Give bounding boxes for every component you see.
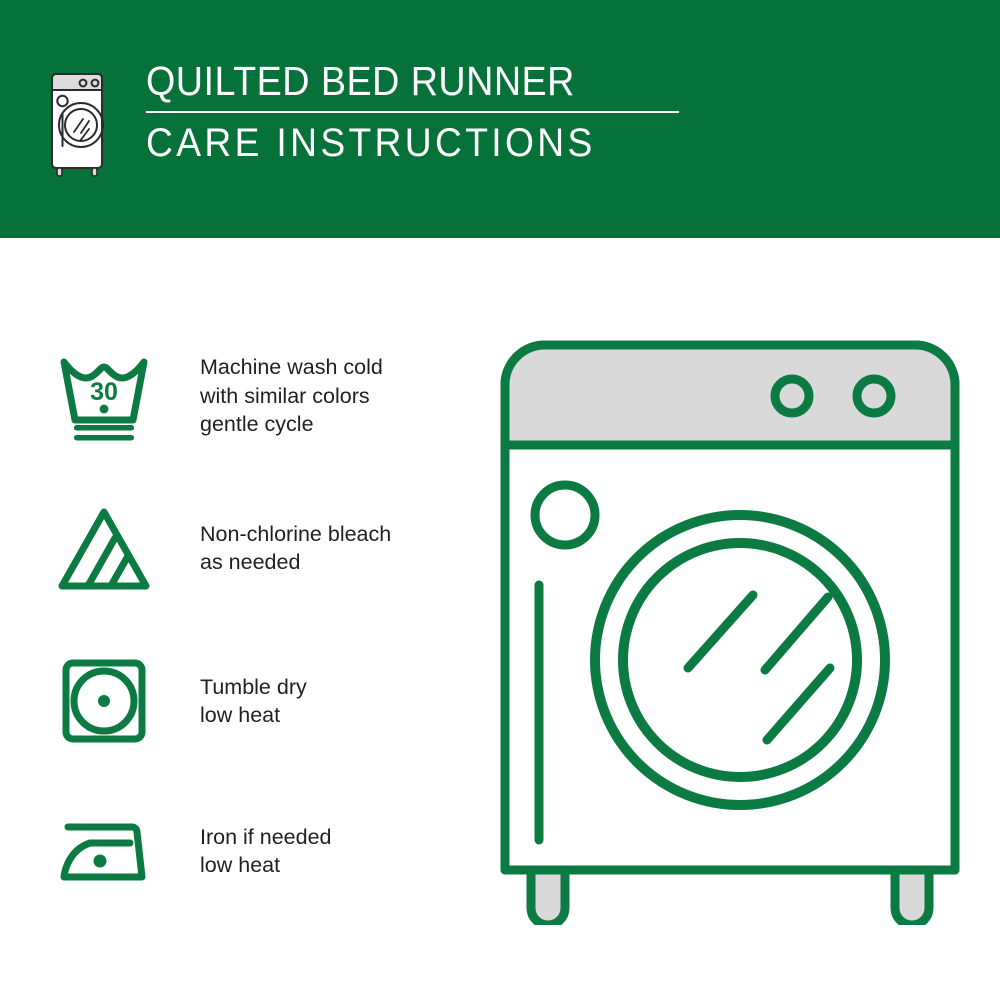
washing-machine-icon bbox=[44, 62, 116, 180]
care-row-iron: Iron if needed low heat bbox=[50, 803, 450, 899]
front-load-washing-machine-illustration bbox=[495, 335, 965, 925]
care-instructions-infographic: QUILTED BED RUNNER CARE INSTRUCTIONS 30 … bbox=[0, 0, 1000, 1000]
title-divider bbox=[146, 111, 679, 113]
machine-wash-tub-30-gentle-icon: 30 bbox=[50, 348, 158, 444]
non-chlorine-bleach-triangle-icon bbox=[50, 500, 158, 596]
care-row-tumble-dry: Tumble dry low heat bbox=[50, 653, 450, 749]
page-title: QUILTED BED RUNNER bbox=[146, 58, 636, 104]
care-text-machine-wash: Machine wash cold with similar colors ge… bbox=[200, 353, 383, 439]
tumble-dry-low-heat-icon bbox=[50, 653, 158, 749]
wash-temperature-value: 30 bbox=[90, 378, 118, 406]
care-row-bleach: Non-chlorine bleach as needed bbox=[50, 500, 450, 596]
page-subtitle: CARE INSTRUCTIONS bbox=[146, 121, 642, 166]
header-band: QUILTED BED RUNNER CARE INSTRUCTIONS bbox=[0, 0, 1000, 238]
care-row-machine-wash: 30 Machine wash cold with similar colors… bbox=[50, 348, 450, 444]
care-instruction-list: 30 Machine wash cold with similar colors… bbox=[0, 238, 480, 1000]
header-content: QUILTED BED RUNNER CARE INSTRUCTIONS bbox=[44, 58, 679, 180]
leg-left bbox=[531, 870, 565, 925]
header-title-group: QUILTED BED RUNNER CARE INSTRUCTIONS bbox=[146, 58, 679, 166]
care-text-bleach: Non-chlorine bleach as needed bbox=[200, 520, 391, 577]
care-text-tumble-dry: Tumble dry low heat bbox=[200, 673, 307, 730]
leg-right bbox=[895, 870, 929, 925]
care-text-iron: Iron if needed low heat bbox=[200, 823, 332, 880]
iron-low-heat-icon bbox=[50, 803, 158, 899]
